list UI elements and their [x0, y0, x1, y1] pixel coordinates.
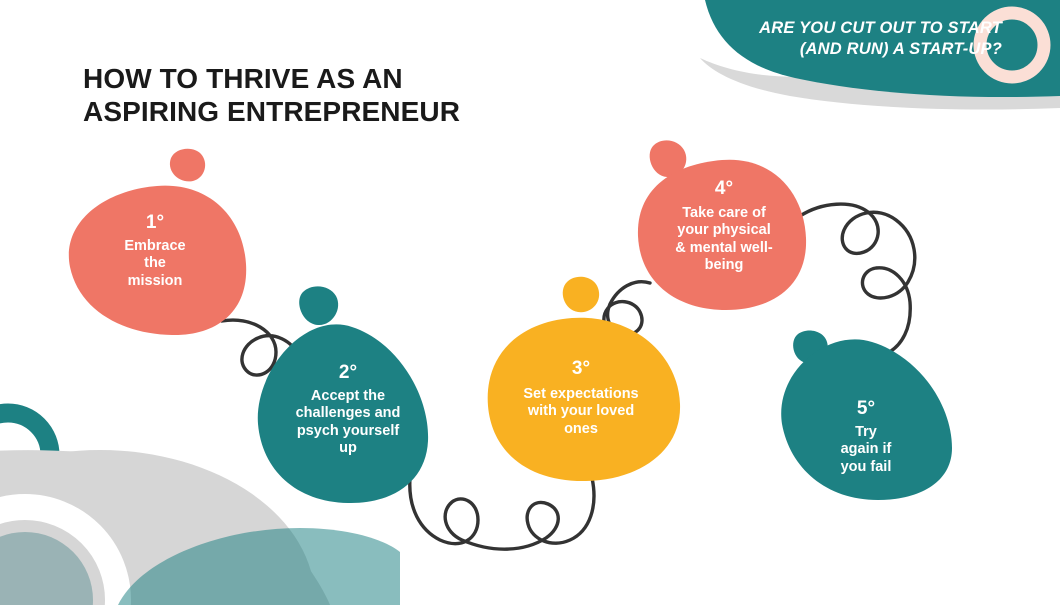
page-title-line2: ASPIRING ENTREPRENEUR	[83, 95, 603, 128]
page-title: HOW TO THRIVE AS AN ASPIRING ENTREPRENEU…	[83, 62, 603, 128]
page-title-line1: HOW TO THRIVE AS AN	[83, 62, 603, 95]
header-tagline-line2: (AND RUN) A START-UP?	[800, 40, 1002, 58]
header-tagline-line1: ARE YOU CUT OUT TO START	[759, 19, 1002, 37]
infographic-canvas: ARE YOU CUT OUT TO START (AND RUN) A STA…	[0, 0, 1060, 605]
header-tagline: ARE YOU CUT OUT TO START (AND RUN) A STA…	[672, 18, 1002, 60]
